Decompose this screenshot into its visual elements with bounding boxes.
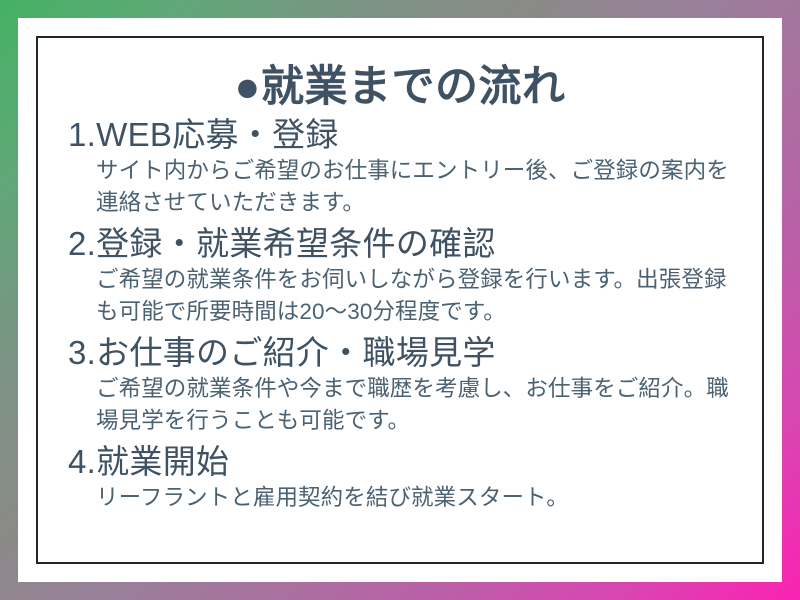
step-heading-1: 1.WEB応募・登録	[68, 117, 732, 154]
white-card: ●就業までの流れ 1.WEB応募・登録 サイト内からご希望のお仕事にエントリー後…	[18, 18, 782, 582]
step-body-4: リーフラントと雇用契約を結び就業スタート。	[96, 482, 732, 514]
step-body-3: ご希望の就業条件や今まで職歴を考慮し、お仕事をご紹介。職場見学を行うことも可能で…	[96, 373, 732, 437]
step-heading-4: 4.就業開始	[68, 444, 732, 481]
page-title: ●就業までの流れ	[68, 64, 732, 111]
poster: ●就業までの流れ 1.WEB応募・登録 サイト内からご希望のお仕事にエントリー後…	[0, 0, 800, 600]
step-body-1: サイト内からご希望のお仕事にエントリー後、ご登録の案内を連絡させていただきます。	[96, 155, 732, 219]
step-heading-3: 3.お仕事のご紹介・職場見学	[68, 335, 732, 372]
step-body-2: ご希望の就業条件をお伺いしながら登録を行います。出張登録も可能で所要時間は20〜…	[96, 264, 732, 328]
step-item-4: 4.就業開始 リーフラントと雇用契約を結び就業スタート。	[68, 444, 732, 514]
step-heading-2: 2.登録・就業希望条件の確認	[68, 226, 732, 263]
content-area: ●就業までの流れ 1.WEB応募・登録 サイト内からご希望のお仕事にエントリー後…	[54, 54, 746, 546]
step-item-2: 2.登録・就業希望条件の確認 ご希望の就業条件をお伺いしながら登録を行います。出…	[68, 226, 732, 328]
step-item-1: 1.WEB応募・登録 サイト内からご希望のお仕事にエントリー後、ご登録の案内を連…	[68, 117, 732, 219]
step-item-3: 3.お仕事のご紹介・職場見学 ご希望の就業条件や今まで職歴を考慮し、お仕事をご紹…	[68, 335, 732, 437]
